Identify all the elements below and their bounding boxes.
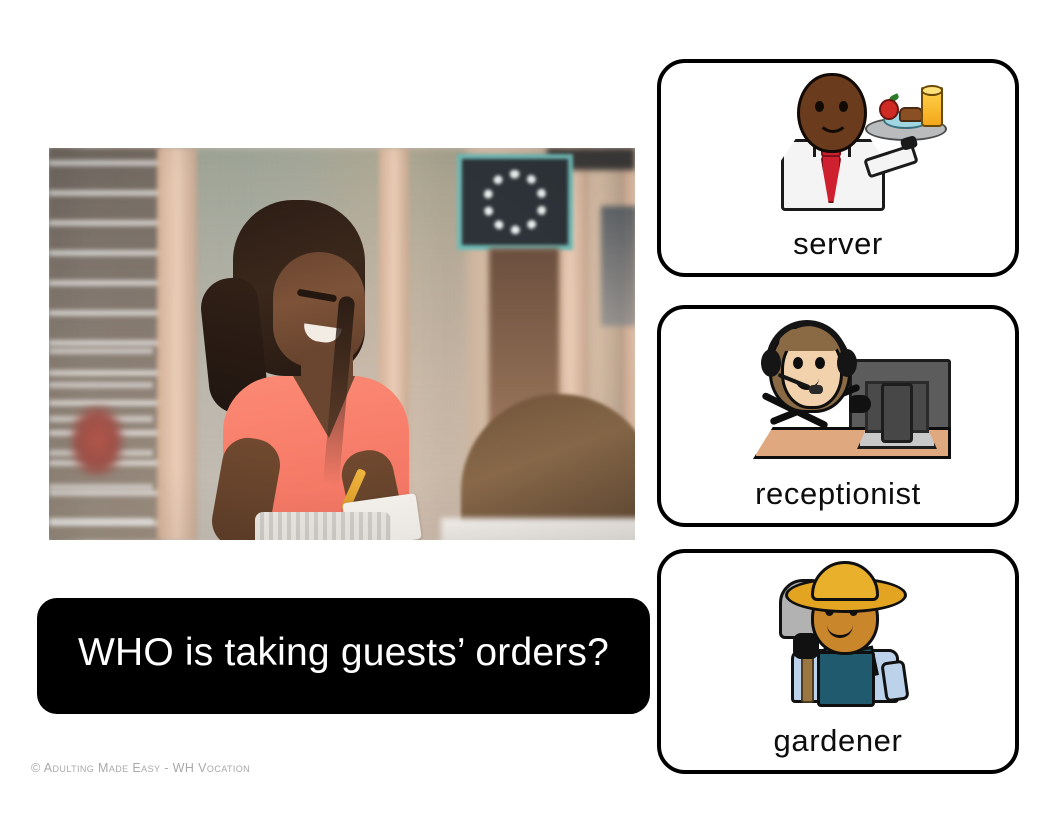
server-hand bbox=[900, 135, 919, 151]
answer-card-receptionist-art bbox=[661, 309, 1015, 478]
answer-card-server-art bbox=[661, 63, 1015, 228]
answer-label-gardener: gardener bbox=[774, 725, 903, 770]
question-line-2: orders? bbox=[475, 631, 609, 674]
footer-credit: © Adulting Made Easy - WH Vocation bbox=[31, 761, 250, 775]
answer-card-server[interactable]: server bbox=[657, 59, 1019, 277]
headset-earcup-right-icon bbox=[837, 349, 857, 377]
receptionist-monitor-stand bbox=[881, 383, 913, 443]
scenario-photo bbox=[49, 148, 635, 540]
server-head bbox=[797, 73, 867, 153]
server-eye-right bbox=[839, 101, 848, 112]
gardener-overalls bbox=[817, 651, 875, 707]
answer-card-gardener-art bbox=[661, 553, 1015, 725]
sun-hat-crown-icon bbox=[811, 561, 879, 601]
photo-vignette bbox=[49, 148, 635, 540]
server-apple-icon bbox=[879, 99, 899, 120]
gardener-right-arm bbox=[880, 660, 909, 703]
photo-scene bbox=[49, 148, 635, 540]
question-line-1: WHO is taking guests’ bbox=[78, 631, 464, 674]
receptionist-pictogram bbox=[753, 323, 953, 453]
answer-card-gardener[interactable]: gardener bbox=[657, 549, 1019, 774]
answer-label-receptionist: receptionist bbox=[755, 478, 921, 523]
question-text: WHO is taking guests’ orders? bbox=[78, 629, 609, 677]
answer-card-receptionist[interactable]: receptionist bbox=[657, 305, 1019, 527]
server-juice-rim-icon bbox=[921, 85, 943, 96]
gardener-pictogram bbox=[771, 561, 941, 701]
server-food-icon bbox=[899, 107, 923, 122]
headset-mic-icon bbox=[809, 385, 823, 394]
answer-choices: server bbox=[657, 59, 1019, 774]
slide-canvas: WHO is taking guests’ orders? © Adulting… bbox=[0, 0, 1056, 816]
server-pictogram bbox=[769, 73, 939, 201]
receptionist-hand bbox=[849, 395, 871, 413]
question-banner: WHO is taking guests’ orders? bbox=[37, 598, 650, 714]
answer-label-server: server bbox=[793, 228, 883, 273]
server-eye-left bbox=[815, 101, 824, 112]
